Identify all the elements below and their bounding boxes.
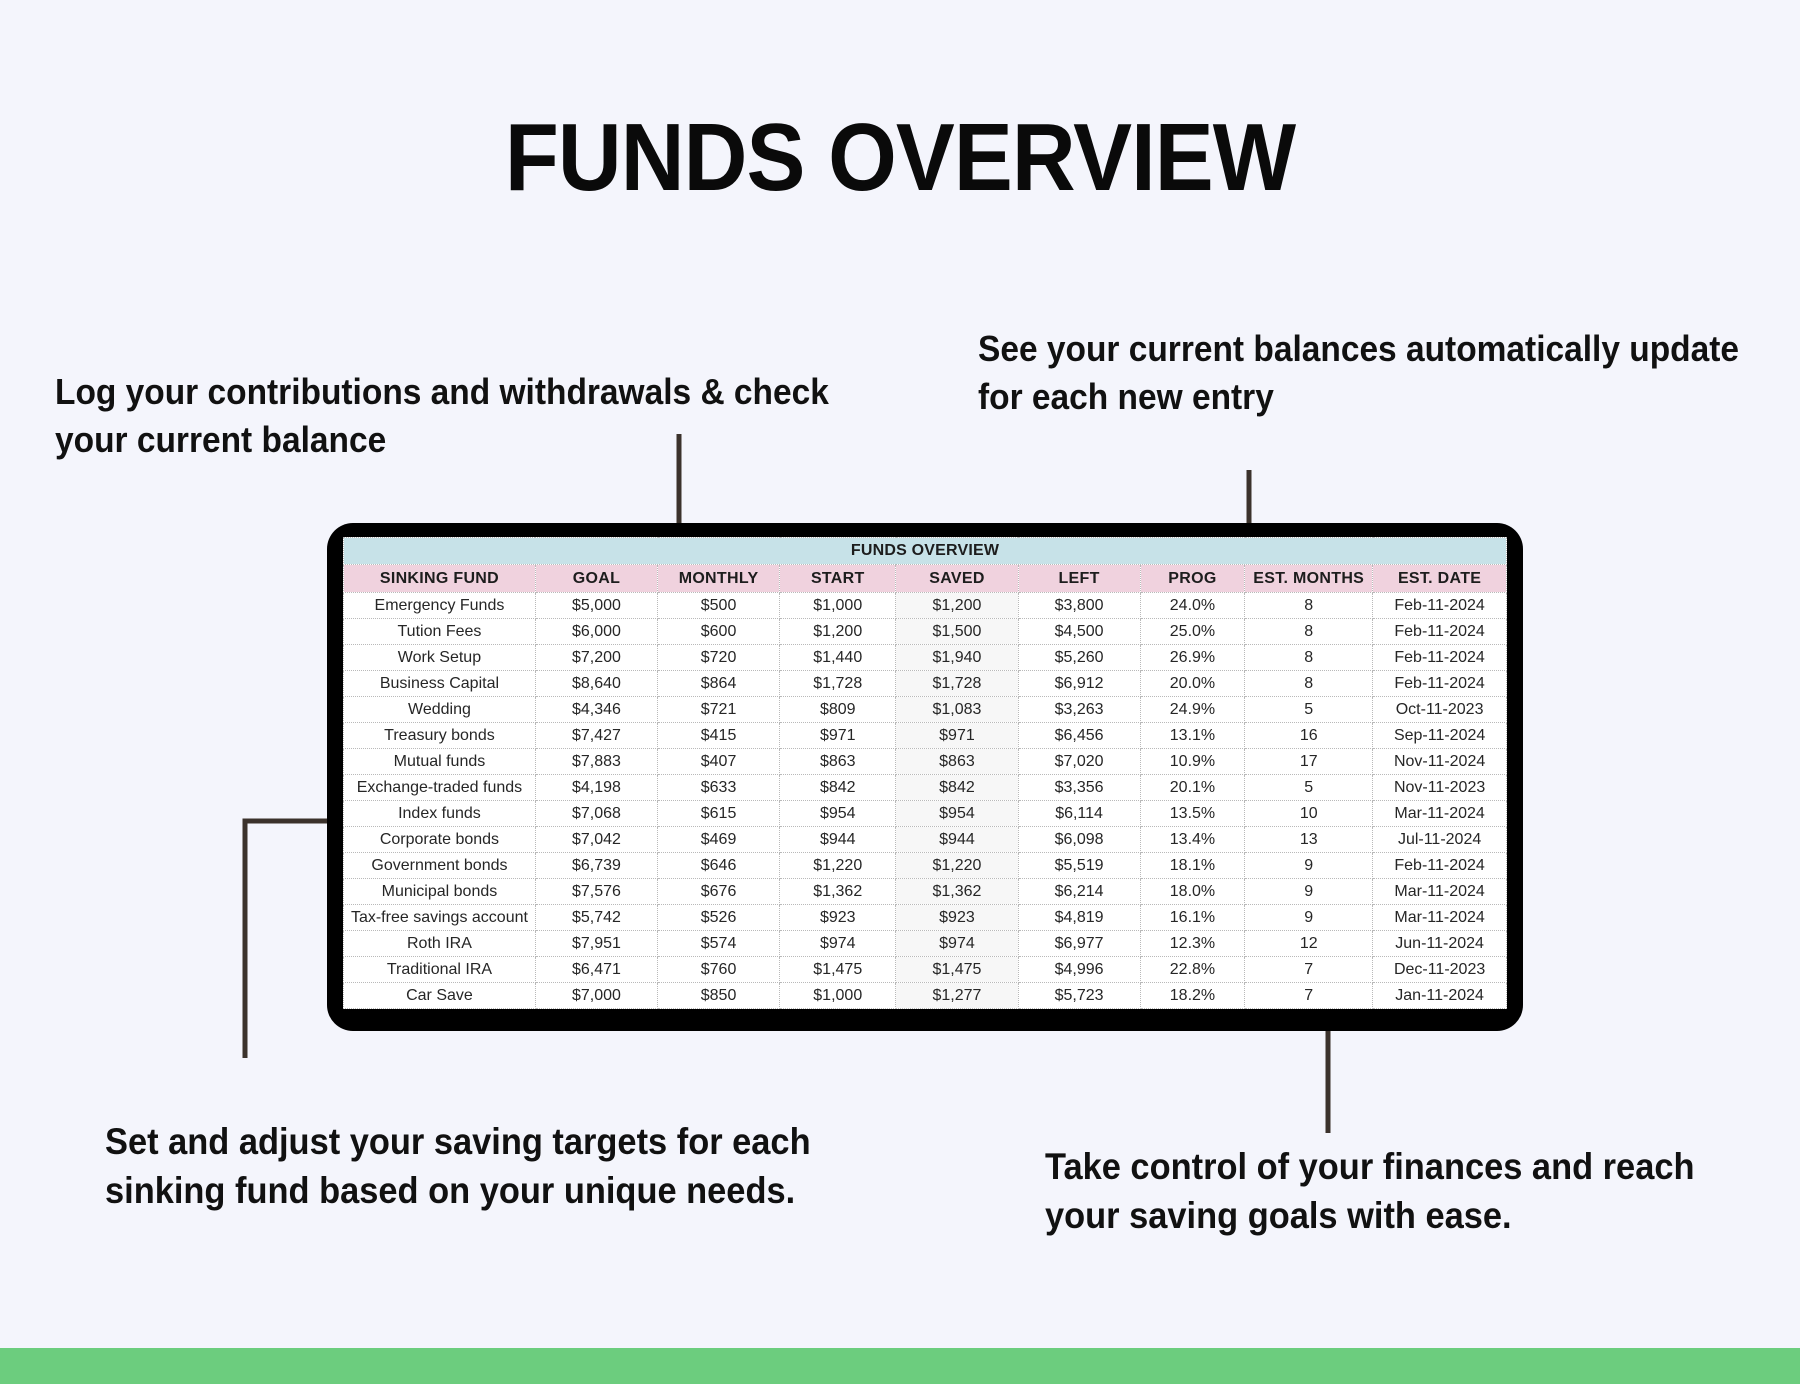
table-cell[interactable]: $6,098 — [1018, 827, 1140, 853]
table-cell[interactable]: Tax-free savings account — [344, 905, 536, 931]
table-cell[interactable]: $944 — [896, 827, 1018, 853]
table-cell[interactable]: $923 — [896, 905, 1018, 931]
table-cell[interactable]: $4,198 — [535, 775, 657, 801]
table-row[interactable]: Mutual funds$7,883$407$863$863$7,02010.9… — [344, 749, 1507, 775]
table-cell[interactable]: $6,912 — [1018, 671, 1140, 697]
table-cell[interactable]: $974 — [780, 931, 896, 957]
table-cell[interactable]: $646 — [658, 853, 780, 879]
spreadsheet-screen[interactable]: FUNDS OVERVIEW SINKING FUNDGOALMONTHLYST… — [343, 537, 1507, 1009]
table-cell[interactable]: $954 — [780, 801, 896, 827]
table-cell[interactable]: $7,576 — [535, 879, 657, 905]
table-cell[interactable]: 10 — [1245, 801, 1373, 827]
table-cell[interactable]: Emergency Funds — [344, 593, 536, 619]
table-cell[interactable]: Feb-11-2024 — [1373, 619, 1507, 645]
table-cell[interactable]: 18.1% — [1140, 853, 1245, 879]
table-cell[interactable]: $633 — [658, 775, 780, 801]
table-cell[interactable]: Oct-11-2023 — [1373, 697, 1507, 723]
table-row[interactable]: Treasury bonds$7,427$415$971$971$6,45613… — [344, 723, 1507, 749]
table-cell[interactable]: $1,362 — [780, 879, 896, 905]
table-cell[interactable]: $5,260 — [1018, 645, 1140, 671]
table-cell[interactable]: 25.0% — [1140, 619, 1245, 645]
table-cell[interactable]: $1,220 — [896, 853, 1018, 879]
table-body[interactable]: Emergency Funds$5,000$500$1,000$1,200$3,… — [344, 593, 1507, 1009]
table-cell[interactable]: $8,640 — [535, 671, 657, 697]
table-row[interactable]: Tution Fees$6,000$600$1,200$1,500$4,5002… — [344, 619, 1507, 645]
column-header-est-months[interactable]: EST. MONTHS — [1245, 565, 1373, 593]
table-cell[interactable]: 8 — [1245, 671, 1373, 697]
table-cell[interactable]: $6,739 — [535, 853, 657, 879]
table-cell[interactable]: $1,475 — [896, 957, 1018, 983]
table-row[interactable]: Index funds$7,068$615$954$954$6,11413.5%… — [344, 801, 1507, 827]
table-cell[interactable]: $469 — [658, 827, 780, 853]
table-cell[interactable]: Dec-11-2023 — [1373, 957, 1507, 983]
table-cell[interactable]: $7,951 — [535, 931, 657, 957]
table-cell[interactable]: $526 — [658, 905, 780, 931]
table-cell[interactable]: Exchange-traded funds — [344, 775, 536, 801]
table-cell[interactable]: $1,440 — [780, 645, 896, 671]
table-cell[interactable]: $7,020 — [1018, 749, 1140, 775]
table-cell[interactable]: $863 — [896, 749, 1018, 775]
column-header-left[interactable]: LEFT — [1018, 565, 1140, 593]
table-cell[interactable]: $863 — [780, 749, 896, 775]
table-cell[interactable]: 7 — [1245, 983, 1373, 1009]
table-cell[interactable]: 5 — [1245, 697, 1373, 723]
table-row[interactable]: Traditional IRA$6,471$760$1,475$1,475$4,… — [344, 957, 1507, 983]
column-header-sinking-fund[interactable]: SINKING FUND — [344, 565, 536, 593]
column-header-monthly[interactable]: MONTHLY — [658, 565, 780, 593]
table-cell[interactable]: $923 — [780, 905, 896, 931]
table-cell[interactable]: 8 — [1245, 619, 1373, 645]
table-cell[interactable]: $1,277 — [896, 983, 1018, 1009]
table-cell[interactable]: $7,883 — [535, 749, 657, 775]
table-cell[interactable]: $7,042 — [535, 827, 657, 853]
table-cell[interactable]: Traditional IRA — [344, 957, 536, 983]
table-cell[interactable]: 10.9% — [1140, 749, 1245, 775]
table-cell[interactable]: $971 — [896, 723, 1018, 749]
funds-overview-table[interactable]: FUNDS OVERVIEW SINKING FUNDGOALMONTHLYST… — [343, 537, 1507, 1009]
table-cell[interactable]: $842 — [896, 775, 1018, 801]
table-cell[interactable]: 7 — [1245, 957, 1373, 983]
table-cell[interactable]: Feb-11-2024 — [1373, 645, 1507, 671]
table-cell[interactable]: $676 — [658, 879, 780, 905]
table-cell[interactable]: 16.1% — [1140, 905, 1245, 931]
table-cell[interactable]: Work Setup — [344, 645, 536, 671]
table-cell[interactable]: $3,356 — [1018, 775, 1140, 801]
table-cell[interactable]: $971 — [780, 723, 896, 749]
table-cell[interactable]: $6,114 — [1018, 801, 1140, 827]
table-cell[interactable]: $1,728 — [896, 671, 1018, 697]
table-cell[interactable]: $7,000 — [535, 983, 657, 1009]
table-cell[interactable]: $1,000 — [780, 593, 896, 619]
table-cell[interactable]: $1,728 — [780, 671, 896, 697]
table-cell[interactable]: 24.9% — [1140, 697, 1245, 723]
table-row[interactable]: Government bonds$6,739$646$1,220$1,220$5… — [344, 853, 1507, 879]
table-cell[interactable]: 12 — [1245, 931, 1373, 957]
table-cell[interactable]: $1,362 — [896, 879, 1018, 905]
table-cell[interactable]: $864 — [658, 671, 780, 697]
table-cell[interactable]: Jan-11-2024 — [1373, 983, 1507, 1009]
table-cell[interactable]: $944 — [780, 827, 896, 853]
table-cell[interactable]: $7,427 — [535, 723, 657, 749]
table-cell[interactable]: 12.3% — [1140, 931, 1245, 957]
table-cell[interactable]: $1,083 — [896, 697, 1018, 723]
table-header-row: SINKING FUNDGOALMONTHLYSTARTSAVEDLEFTPRO… — [344, 565, 1507, 593]
table-cell[interactable]: Corporate bonds — [344, 827, 536, 853]
table-cell[interactable]: 18.0% — [1140, 879, 1245, 905]
table-cell[interactable]: Nov-11-2024 — [1373, 749, 1507, 775]
table-cell[interactable]: 13.4% — [1140, 827, 1245, 853]
table-row[interactable]: Wedding$4,346$721$809$1,083$3,26324.9%5O… — [344, 697, 1507, 723]
table-cell[interactable]: $407 — [658, 749, 780, 775]
table-cell[interactable]: $5,519 — [1018, 853, 1140, 879]
table-cell[interactable]: $842 — [780, 775, 896, 801]
table-cell[interactable]: $6,977 — [1018, 931, 1140, 957]
table-cell[interactable]: $574 — [658, 931, 780, 957]
table-cell[interactable]: Treasury bonds — [344, 723, 536, 749]
table-cell[interactable]: $4,996 — [1018, 957, 1140, 983]
table-cell[interactable]: Feb-11-2024 — [1373, 671, 1507, 697]
column-header-saved[interactable]: SAVED — [896, 565, 1018, 593]
table-cell[interactable]: Jul-11-2024 — [1373, 827, 1507, 853]
table-row[interactable]: Emergency Funds$5,000$500$1,000$1,200$3,… — [344, 593, 1507, 619]
table-cell[interactable]: $500 — [658, 593, 780, 619]
table-cell[interactable]: 16 — [1245, 723, 1373, 749]
table-cell[interactable]: 17 — [1245, 749, 1373, 775]
table-cell[interactable]: 9 — [1245, 905, 1373, 931]
table-cell[interactable]: $6,456 — [1018, 723, 1140, 749]
table-cell[interactable]: Feb-11-2024 — [1373, 593, 1507, 619]
table-row[interactable]: Business Capital$8,640$864$1,728$1,728$6… — [344, 671, 1507, 697]
table-cell[interactable]: 20.0% — [1140, 671, 1245, 697]
table-cell[interactable]: Mutual funds — [344, 749, 536, 775]
callout-current-balances: See your current balances automatically … — [978, 325, 1741, 420]
column-header-est-date[interactable]: EST. DATE — [1373, 565, 1507, 593]
table-cell[interactable]: $4,500 — [1018, 619, 1140, 645]
table-cell[interactable]: $1,500 — [896, 619, 1018, 645]
table-cell[interactable]: Nov-11-2023 — [1373, 775, 1507, 801]
table-cell[interactable]: 8 — [1245, 645, 1373, 671]
table-cell[interactable]: $954 — [896, 801, 1018, 827]
callout-take-control: Take control of your finances and reach … — [1045, 1143, 1696, 1241]
table-cell[interactable]: 13 — [1245, 827, 1373, 853]
table-cell[interactable]: Business Capital — [344, 671, 536, 697]
table-cell[interactable]: $1,000 — [780, 983, 896, 1009]
table-cell[interactable]: 26.9% — [1140, 645, 1245, 671]
table-cell[interactable]: 22.8% — [1140, 957, 1245, 983]
table-cell[interactable]: $850 — [658, 983, 780, 1009]
table-cell[interactable]: $6,214 — [1018, 879, 1140, 905]
table-cell[interactable]: 13.1% — [1140, 723, 1245, 749]
column-header-prog[interactable]: PROG — [1140, 565, 1245, 593]
table-cell[interactable]: Government bonds — [344, 853, 536, 879]
table-cell[interactable]: Index funds — [344, 801, 536, 827]
table-cell[interactable]: Municipal bonds — [344, 879, 536, 905]
table-row[interactable]: Roth IRA$7,951$574$974$974$6,97712.3%12J… — [344, 931, 1507, 957]
table-cell[interactable]: Roth IRA — [344, 931, 536, 957]
table-cell[interactable]: Sep-11-2024 — [1373, 723, 1507, 749]
table-cell[interactable]: $600 — [658, 619, 780, 645]
table-cell[interactable]: 5 — [1245, 775, 1373, 801]
table-cell[interactable]: $4,819 — [1018, 905, 1140, 931]
table-cell[interactable]: $974 — [896, 931, 1018, 957]
table-row[interactable]: Exchange-traded funds$4,198$633$842$842$… — [344, 775, 1507, 801]
table-cell[interactable]: $1,940 — [896, 645, 1018, 671]
table-cell[interactable]: 24.0% — [1140, 593, 1245, 619]
table-cell[interactable]: $7,200 — [535, 645, 657, 671]
table-cell[interactable]: $7,068 — [535, 801, 657, 827]
table-cell[interactable]: 8 — [1245, 593, 1373, 619]
table-cell[interactable]: $6,471 — [535, 957, 657, 983]
table-cell[interactable]: $3,800 — [1018, 593, 1140, 619]
column-header-start[interactable]: START — [780, 565, 896, 593]
table-row[interactable]: Work Setup$7,200$720$1,440$1,940$5,26026… — [344, 645, 1507, 671]
table-cell[interactable]: $1,200 — [896, 593, 1018, 619]
device-frame: FUNDS OVERVIEW SINKING FUNDGOALMONTHLYST… — [327, 523, 1523, 1031]
table-cell[interactable]: Mar-11-2024 — [1373, 879, 1507, 905]
table-cell[interactable]: $760 — [658, 957, 780, 983]
table-cell[interactable]: $5,742 — [535, 905, 657, 931]
bottom-accent-band — [0, 1348, 1800, 1384]
table-cell[interactable]: $4,346 — [535, 697, 657, 723]
table-cell[interactable]: 9 — [1245, 879, 1373, 905]
table-row[interactable]: Tax-free savings account$5,742$526$923$9… — [344, 905, 1507, 931]
table-cell[interactable]: $615 — [658, 801, 780, 827]
table-cell[interactable]: 18.2% — [1140, 983, 1245, 1009]
table-cell[interactable]: Wedding — [344, 697, 536, 723]
table-cell[interactable]: $1,200 — [780, 619, 896, 645]
callout-log-contributions: Log your contributions and withdrawals &… — [55, 368, 864, 463]
table-cell[interactable]: Car Save — [344, 983, 536, 1009]
table-cell[interactable]: $5,723 — [1018, 983, 1140, 1009]
table-cell[interactable]: $6,000 — [535, 619, 657, 645]
table-row[interactable]: Municipal bonds$7,576$676$1,362$1,362$6,… — [344, 879, 1507, 905]
table-cell[interactable]: $809 — [780, 697, 896, 723]
table-cell[interactable]: 9 — [1245, 853, 1373, 879]
table-cell[interactable]: $5,000 — [535, 593, 657, 619]
table-cell[interactable]: Mar-11-2024 — [1373, 905, 1507, 931]
table-cell[interactable]: Jun-11-2024 — [1373, 931, 1507, 957]
sheet-title-row: FUNDS OVERVIEW — [344, 538, 1507, 565]
table-cell[interactable]: 20.1% — [1140, 775, 1245, 801]
table-cell[interactable]: Tution Fees — [344, 619, 536, 645]
page-title: FUNDS OVERVIEW — [72, 110, 1728, 206]
table-cell[interactable]: Mar-11-2024 — [1373, 801, 1507, 827]
table-cell[interactable]: $720 — [658, 645, 780, 671]
table-cell[interactable]: $3,263 — [1018, 697, 1140, 723]
callout-saving-targets: Set and adjust your saving targets for e… — [105, 1118, 914, 1216]
table-row[interactable]: Car Save$7,000$850$1,000$1,277$5,72318.2… — [344, 983, 1507, 1009]
table-cell[interactable]: 13.5% — [1140, 801, 1245, 827]
table-cell[interactable]: $721 — [658, 697, 780, 723]
table-cell[interactable]: $1,220 — [780, 853, 896, 879]
table-row[interactable]: Corporate bonds$7,042$469$944$944$6,0981… — [344, 827, 1507, 853]
column-header-goal[interactable]: GOAL — [535, 565, 657, 593]
sheet-title: FUNDS OVERVIEW — [344, 538, 1507, 565]
table-cell[interactable]: Feb-11-2024 — [1373, 853, 1507, 879]
table-cell[interactable]: $415 — [658, 723, 780, 749]
table-cell[interactable]: $1,475 — [780, 957, 896, 983]
